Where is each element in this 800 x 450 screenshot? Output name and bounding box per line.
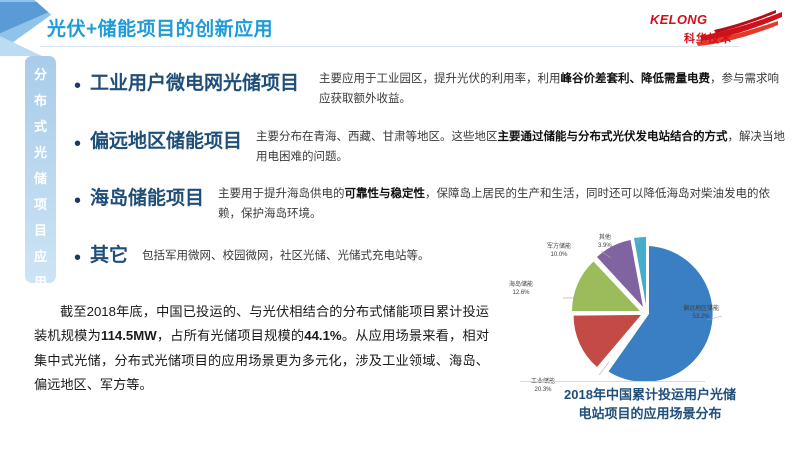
list-item-title: 偏远地区储能项目 [90,126,242,153]
bullet-marker: • [74,191,81,211]
tab-char-5: 项 [25,192,56,218]
leader-line-industry [599,362,609,375]
pie-label-island-name: 海岛储能 [509,282,533,288]
list-item-description: 主要应用于工业园区，提升光伏的利用率，利用峰谷价差套利、降低需量电费，参与需求响… [299,68,790,110]
bullet-marker: • [74,76,81,96]
pie-label-army-value: 10.0% [547,252,571,260]
desc-text: 主要分布在青海、西藏、甘肃等地区。这些地区 [256,131,498,143]
pie-label-other: 其他 3.9% [598,235,612,250]
tab-char-4: 储 [25,166,56,192]
chart-caption-line-2: 电站项目的应用场景分布 [505,405,795,424]
desc-bold: 与分布式光伏发电站结合的方式 [567,131,728,143]
desc-bold: 差套利、降低需量电费 [595,73,710,85]
pie-label-remote-name: 偏远地区储能 [683,306,719,312]
tab-char-3: 光 [25,140,56,166]
desc-bold: 主要通过储能 [498,131,567,143]
title-divider [40,46,740,47]
pie-label-industry-name: 工业储能 [531,379,555,385]
summary-paragraph: 截至2018年底，中国已投运的、与光伏相结合的分布式储能项目累计投运装机规模为1… [34,300,489,398]
paragraph-part: ，占所有光储项目规模的 [157,328,305,343]
logo-wordmark: KELONG [650,12,707,27]
tab-char-1: 布 [25,88,56,114]
brand-logo: KELONG 科华技术 [644,8,784,48]
list-item-title: 海岛储能项目 [90,183,204,210]
desc-text: 主要应用于工业园区，提升光伏的利用率，利用 [319,73,561,85]
desc-text: 主要用于提升海岛供电的 [218,188,345,200]
tab-char-8: 用 [25,270,56,296]
desc-text: 包括军用微网、校园微网，社区光储、光储式充电站等。 [142,250,430,262]
list-item: • 海岛储能项目 主要用于提升海岛供电的可靠性与稳定性，保障岛上居民的生产和生活… [74,183,790,225]
caption-divider [520,381,705,382]
desc-bold: 可靠性与稳定性 [345,188,426,200]
list-item-title: 其它 [90,240,128,267]
section-tab-distributed-pv-storage: 分 布 式 光 储 项 目 应 用 [25,56,56,283]
page-title: 光伏+储能项目的创新应用 [47,14,273,41]
pie-label-army: 军方储能 10.0% [547,244,571,259]
chart-caption: 2018年中国累计投运用户光储 电站项目的应用场景分布 [505,386,795,424]
logo-chinese-name: 科华技术 [684,30,732,46]
list-item: • 工业用户微电网光储项目 主要应用于工业园区，提升光伏的利用率，利用峰谷价差套… [74,68,790,110]
bullet-marker: • [74,134,81,154]
pie-label-island-value: 12.6% [509,290,533,298]
slide-canvas: 光伏+储能项目的创新应用 KELONG 科华技术 分 布 式 光 储 项 目 应… [0,0,800,450]
list-item-title: 工业用户微电网光储项目 [90,68,299,95]
list-item: • 偏远地区储能项目 主要分布在青海、西藏、甘肃等地区。这些地区主要通过储能与分… [74,126,790,168]
paragraph-highlight-capacity: 114.5MW [101,328,157,343]
tab-char-0: 分 [25,62,56,88]
pie-label-army-name: 军方储能 [547,244,571,250]
desc-bold: 峰谷价 [561,73,596,85]
tab-char-2: 式 [25,114,56,140]
list-item-description: 主要用于提升海岛供电的可靠性与稳定性，保障岛上居民的生产和生活，同时还可以降低海… [204,183,790,225]
pie-label-other-value: 3.9% [598,243,612,251]
paragraph-highlight-share: 44.1% [304,328,341,343]
tab-char-6: 目 [25,218,56,244]
pie-label-remote-value: 53.2% [683,314,719,322]
list-item-description: 主要分布在青海、西藏、甘肃等地区。这些地区主要通过储能与分布式光伏发电站结合的方… [242,126,790,168]
bullet-marker: • [74,248,81,268]
pie-label-island: 海岛储能 12.6% [509,282,533,297]
pie-label-remote: 偏远地区储能 53.2% [683,306,719,321]
tab-char-7: 应 [25,244,56,270]
pie-label-other-name: 其他 [599,235,611,241]
chart-caption-line-1: 2018年中国累计投运用户光储 [505,386,795,405]
